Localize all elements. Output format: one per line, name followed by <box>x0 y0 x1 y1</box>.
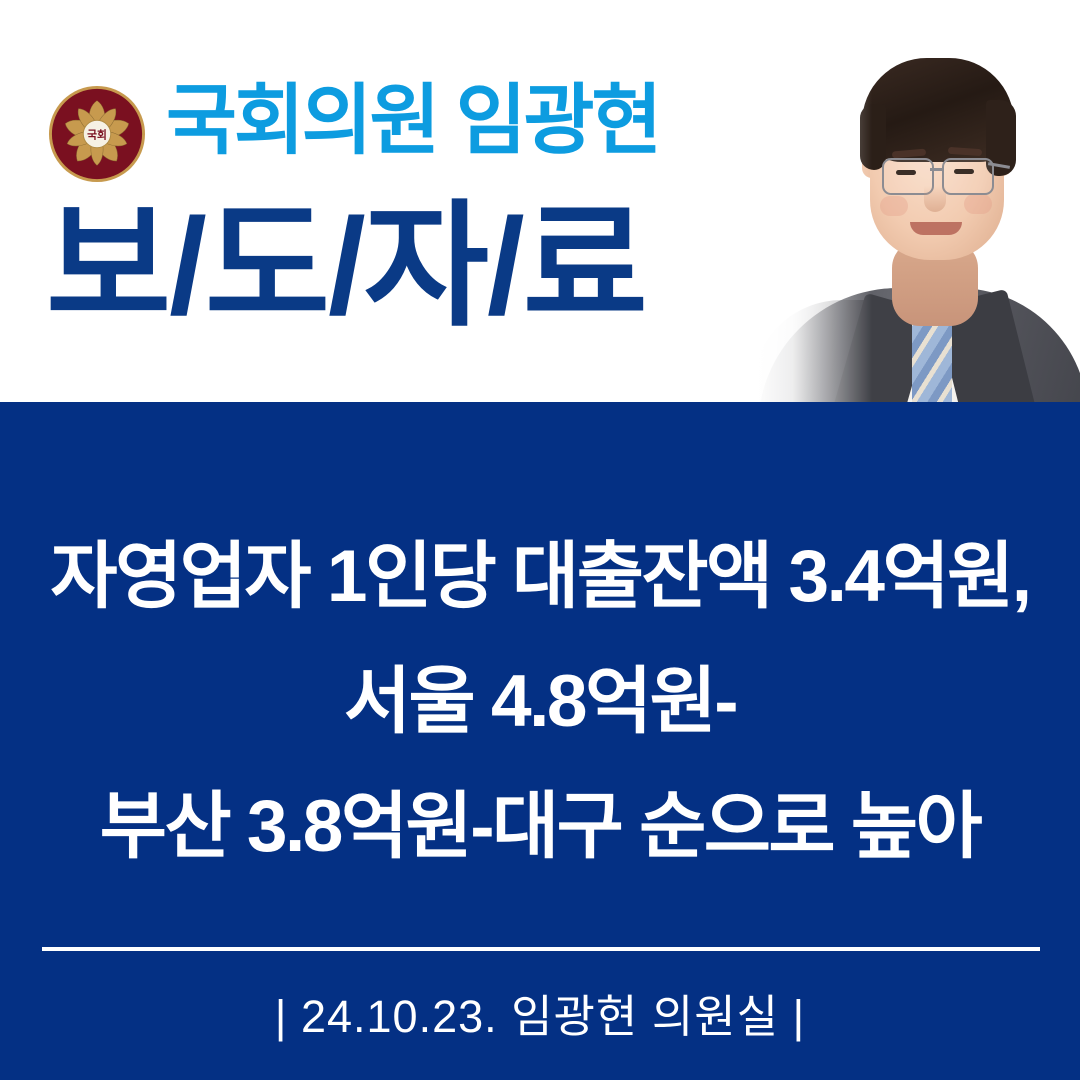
headline-block: 자영업자 1인당 대출잔액 3.4억원, 서울 4.8억원- 부산 3.8억원-… <box>0 514 1080 889</box>
portrait-glasses-bridge <box>930 168 942 171</box>
politician-portrait-photo <box>752 0 1080 402</box>
press-release-card: 국회 국회의원 임광현 보/도/자/료 자영업자 1인당 대출잔액 3.4억원,… <box>0 0 1080 1080</box>
headline-line-3: 부산 3.8억원-대구 순으로 높아 <box>0 764 1080 889</box>
portrait-left-fade <box>752 0 872 402</box>
emblem-center-label: 국회 <box>87 128 107 141</box>
headline-line-1: 자영업자 1인당 대출잔액 3.4억원, <box>0 514 1080 639</box>
portrait-cheek-left <box>880 196 908 216</box>
headline-line-2: 서울 4.8억원- <box>0 639 1080 764</box>
portrait-cheek-right <box>964 194 992 214</box>
emblem-svg: 국회 <box>48 85 146 183</box>
footer-divider <box>42 947 1040 951</box>
header-section: 국회 국회의원 임광현 보/도/자/료 <box>0 0 1080 402</box>
brand-title: 국회의원 임광현 <box>166 83 659 160</box>
portrait-mouth <box>910 222 962 235</box>
footer-attribution: | 24.10.23. 임광현 의원실 | <box>0 980 1080 1045</box>
portrait-glasses-lens-right <box>942 158 994 195</box>
national-assembly-emblem: 국회 <box>48 85 146 183</box>
body-section: 자영업자 1인당 대출잔액 3.4억원, 서울 4.8억원- 부산 3.8억원-… <box>0 402 1080 1080</box>
portrait-nose <box>924 186 946 212</box>
press-release-title: 보/도/자/료 <box>46 198 646 334</box>
